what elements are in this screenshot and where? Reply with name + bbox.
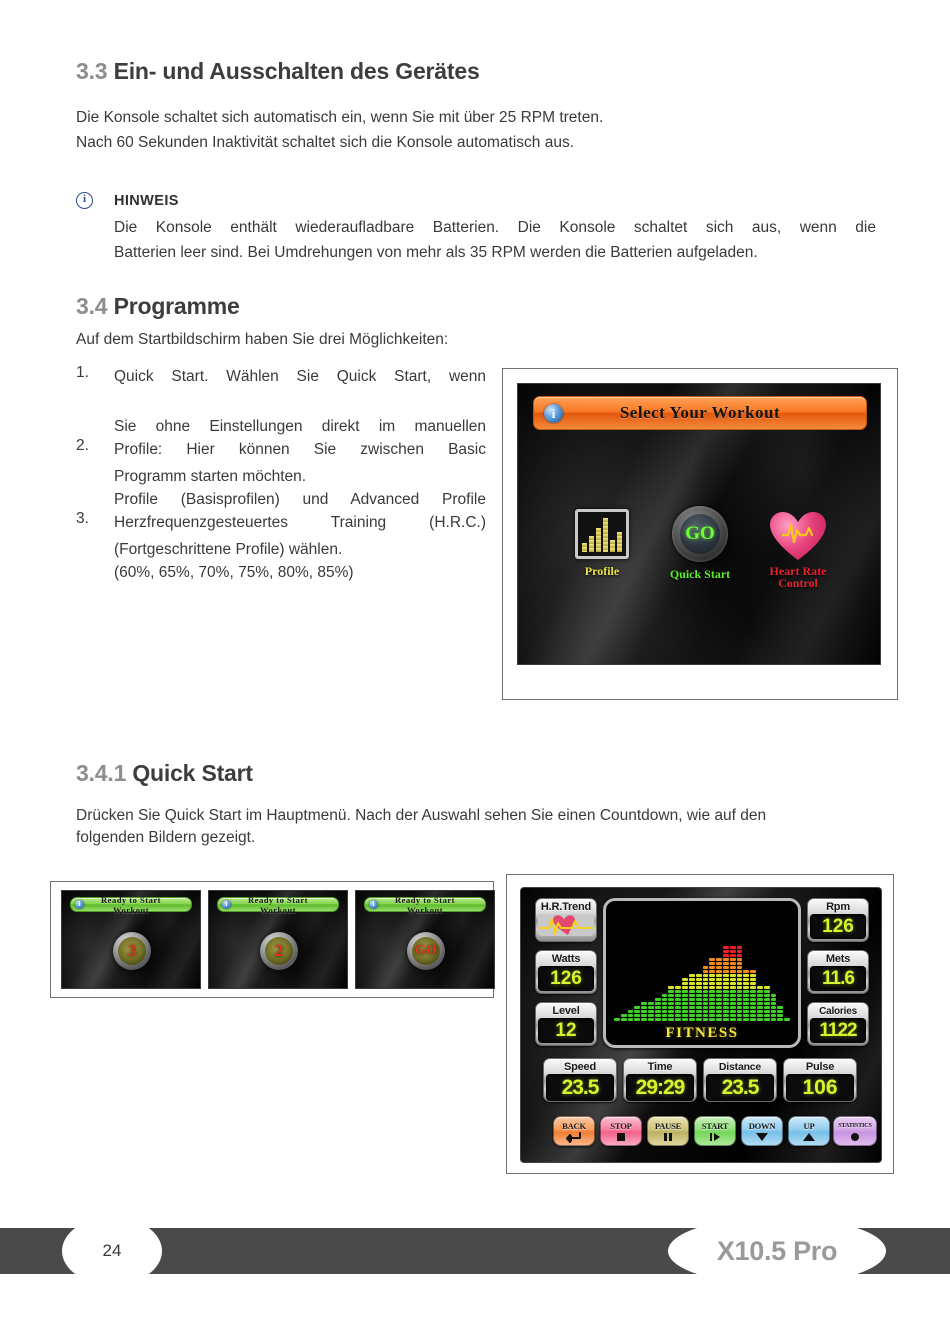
profile-bar-segment [709, 1010, 715, 1013]
profile-bar-segment [655, 1018, 661, 1021]
profile-bar-segment [716, 1002, 722, 1005]
console-button-pause[interactable]: PAUSE [647, 1116, 689, 1146]
profile-bar-segment [737, 1014, 743, 1017]
profile-bar-segment [730, 1018, 736, 1021]
pause-bars-icon [662, 1132, 674, 1143]
profile-bar-segment [614, 1018, 620, 1021]
profile-bar-segment [771, 1014, 777, 1017]
profile-bar [737, 946, 743, 1021]
profile-bar-segment [764, 990, 770, 993]
profile-bar-segment [703, 978, 709, 981]
profile-bar-segment [716, 994, 722, 997]
profile-bar-segment [764, 1014, 770, 1017]
workout-option-quick-start-label: Quick Start [658, 567, 742, 582]
workout-option-heart-rate-control[interactable]: Heart Rate Control [756, 508, 840, 589]
profile-bar-segment [743, 994, 749, 997]
console-button-label: STOP [610, 1121, 631, 1131]
profile-bar-segment [675, 1018, 681, 1021]
console-readout-label: Watts [538, 953, 594, 966]
profile-bar [716, 958, 722, 1021]
section-number: 3.4.1 [76, 760, 126, 786]
profile-bar-segment [723, 1010, 729, 1013]
console-readout-value: 12 [538, 1018, 594, 1043]
profile-bar [764, 986, 770, 1021]
profile-bar-segment [703, 966, 709, 969]
console-readout-label: Time [626, 1061, 694, 1074]
profile-bar-segment [641, 1018, 647, 1021]
back-arrow-icon [566, 1132, 582, 1143]
profile-bar-segment [757, 990, 763, 993]
console-readout-label: Calories [810, 1005, 866, 1018]
triangle-up-icon [802, 1132, 816, 1142]
info-icon: i [544, 404, 563, 423]
hrc-label-line-2: Control [778, 576, 818, 590]
profile-bar-segment [641, 1014, 647, 1017]
go-button-glyph: GO [680, 514, 720, 554]
profile-bar-segment [675, 1002, 681, 1005]
profile-bar-segment [689, 974, 695, 977]
profile-bar-segment [628, 1010, 634, 1013]
heart-ecg-icon [538, 914, 594, 936]
profile-bar-segment [682, 994, 688, 997]
profile-bar-segment [709, 978, 715, 981]
console-button-back[interactable]: BACK [553, 1116, 595, 1146]
profile-bar-segment [730, 990, 736, 993]
profile-bar-segment [703, 994, 709, 997]
profile-bar-segment [648, 1018, 654, 1021]
profile-bar-segment [723, 986, 729, 989]
profile-bar-segment [730, 962, 736, 965]
list-item-3-line-2: (60%, 65%, 70%, 75%, 80%, 85%) [114, 560, 486, 585]
profile-bar-segment [703, 970, 709, 973]
profile-bar-segment [675, 998, 681, 1001]
profile-bar-segment [723, 998, 729, 1001]
countdown-value: 3 [118, 937, 146, 965]
profile-bar-segment [641, 1006, 647, 1009]
console-button-down[interactable]: DOWN [741, 1116, 783, 1146]
page-number-badge: 24 [62, 1217, 162, 1285]
profile-bar-segment [668, 1006, 674, 1009]
console-readout-label: Speed [546, 1061, 614, 1074]
model-badge: X10.5 Pro [668, 1217, 886, 1285]
console-button-label: START [702, 1121, 728, 1131]
profile-bar-segment [757, 998, 763, 1001]
bar-chart-icon [575, 509, 629, 559]
profile-bar-segment [655, 1002, 661, 1005]
profile-bar-segment [743, 1006, 749, 1009]
profile-bar-segment [682, 1018, 688, 1021]
profile-bar-segment [771, 994, 777, 997]
profile-bar-segment [737, 998, 743, 1001]
profile-bar [743, 970, 749, 1021]
console-readout-label: Mets [810, 953, 866, 966]
profile-bar [682, 978, 688, 1021]
countdown-titlebar-label: Ready to Start Workout [84, 895, 178, 915]
profile-bar-segment [634, 1006, 640, 1009]
profile-bar-segment [743, 986, 749, 989]
profile-bar-segment [709, 1002, 715, 1005]
profile-bar-segment [750, 986, 756, 989]
countdown-puck: 3 [113, 932, 151, 970]
list-item-number-3: 3. [76, 510, 89, 528]
profile-bar-segment [777, 1006, 783, 1009]
console-button-label: STATISTICS [838, 1121, 872, 1131]
workout-option-hrc-label: Heart Rate Control [756, 565, 840, 589]
profile-bar-segment [757, 986, 763, 989]
console-readout-speed[interactable]: Speed 23.5 [543, 1058, 617, 1102]
profile-bar-segment [668, 1002, 674, 1005]
profile-bar [621, 1014, 627, 1021]
profile-bar-segment [723, 1018, 729, 1021]
play-arrow-icon [709, 1132, 722, 1143]
profile-bar-segment [703, 1018, 709, 1021]
countdown-titlebar-label: Ready to Start Workout [378, 895, 472, 915]
profile-bar-segment [730, 1006, 736, 1009]
profile-bar-segment [675, 1006, 681, 1009]
console-readout-value: 23.5 [706, 1074, 774, 1101]
profile-bar-segment [723, 958, 729, 961]
profile-bar-segment [757, 1002, 763, 1005]
console-readout-watts[interactable]: Watts 126 [535, 950, 597, 994]
profile-bar-segment [743, 1018, 749, 1021]
profile-bar [675, 986, 681, 1021]
profile-bar-segment [709, 974, 715, 977]
info-icon: i [75, 900, 84, 909]
profile-bar-segment [777, 1010, 783, 1013]
countdown-puck: 2 [260, 932, 298, 970]
profile-bar [662, 994, 668, 1021]
profile-bar [696, 974, 702, 1021]
profile-bar [750, 970, 756, 1021]
paragraph-3-3-line-2: Nach 60 Sekunden Inaktivität schaltet si… [76, 131, 574, 155]
profile-bar-segment [757, 1006, 763, 1009]
profile-bar-segment [668, 986, 674, 989]
console-readout-mets[interactable]: Mets 11.6 [807, 950, 869, 994]
paragraph-3-3-line-1: Die Konsole schaltet sich automatisch ei… [76, 106, 603, 130]
profile-bar-segment [757, 1018, 763, 1021]
list-item-3-line-1: Herzfrequenzgesteuertes Training (H.R.C.… [114, 510, 486, 560]
profile-bar-segment [737, 966, 743, 969]
section-heading-3-3: 3.3 Ein- und Ausschalten des Gerätes [76, 58, 480, 85]
profile-bar-segment [764, 1018, 770, 1021]
ecg-line-icon [782, 522, 814, 544]
profile-bar [703, 966, 709, 1021]
profile-bar-segment [771, 998, 777, 1001]
profile-bar-segment [696, 994, 702, 997]
console-button-label: PAUSE [655, 1121, 681, 1131]
countdown-titlebar-label: Ready to Start Workout [231, 895, 325, 915]
console-body: H.R.Trend Watts 126 Level 12 Rpm 1 [520, 887, 882, 1163]
profile-bar-segment [682, 1006, 688, 1009]
profile-bar-segment [689, 1002, 695, 1005]
profile-bar-segment [723, 982, 729, 985]
profile-bar-segment [716, 1018, 722, 1021]
profile-bar-segment [709, 982, 715, 985]
profile-bar-segment [730, 946, 736, 949]
figure-fitness-console: H.R.Trend Watts 126 Level 12 Rpm 1 [506, 874, 894, 1174]
profile-bar-segment [723, 978, 729, 981]
console-readout-pulse[interactable]: Pulse 106 [783, 1058, 857, 1102]
profile-bar-segment [621, 1014, 627, 1017]
list-item-3-text: Herzfrequenzgesteuertes Training (H.R.C.… [114, 510, 486, 585]
profile-bar-segment [703, 990, 709, 993]
info-icon: i [76, 192, 93, 209]
profile-bar-segment [771, 1006, 777, 1009]
profile-bar-segment [682, 990, 688, 993]
profile-bar-segment [723, 950, 729, 953]
profile-bar-segment [730, 998, 736, 1001]
profile-bar-segment [675, 986, 681, 989]
console-button-statistics[interactable]: STATISTICS [833, 1116, 877, 1146]
profile-bar-segment [696, 1006, 702, 1009]
profile-bar [689, 974, 695, 1021]
profile-bar-segment [716, 978, 722, 981]
console-readout-rpm[interactable]: Rpm 126 [807, 898, 869, 942]
profile-bar-segment [709, 970, 715, 973]
countdown-puck: GO [407, 932, 445, 970]
profile-bar-segment [716, 990, 722, 993]
note-line-2: Batterien leer sind. Bei Umdrehungen von… [114, 240, 876, 265]
profile-bar-segment [716, 974, 722, 977]
profile-bar-segment [737, 1006, 743, 1009]
console-button-stop[interactable]: STOP [600, 1116, 642, 1146]
section-title: Programme [114, 293, 240, 319]
profile-bar-segment [723, 990, 729, 993]
profile-bar-segment [737, 1018, 743, 1021]
profile-bar-segment [648, 1010, 654, 1013]
countdown-screen-3: i Ready to Start Workout 3 [61, 890, 201, 989]
profile-bar-segment [682, 1002, 688, 1005]
profile-bar-segment [689, 998, 695, 1001]
paragraph-3-4-1-line-2: folgenden Bildern gezeigt. [76, 826, 255, 850]
profile-bar-segment [730, 982, 736, 985]
manual-page: 3.3 Ein- und Ausschalten des Gerätes Die… [0, 0, 950, 1343]
profile-bar-segment [764, 1006, 770, 1009]
profile-bar-segment [750, 1006, 756, 1009]
profile-bar-segment [764, 986, 770, 989]
profile-bar-segment [675, 1010, 681, 1013]
profile-bar-segment [730, 970, 736, 973]
profile-bar-segment [696, 998, 702, 1001]
profile-bar-segment [757, 1014, 763, 1017]
figure-select-workout: i Select Your Workout Profile GO Quick S… [502, 368, 898, 700]
dot-circle-icon [849, 1132, 861, 1143]
profile-bar-segment [655, 998, 661, 1001]
profile-bar-segment [750, 1010, 756, 1013]
profile-bar-segment [777, 1014, 783, 1017]
profile-bar-segment [730, 986, 736, 989]
profile-bar-segment [689, 994, 695, 997]
profile-bar-segment [655, 1006, 661, 1009]
section-number: 3.4 [76, 293, 107, 319]
profile-bar-segment [723, 1002, 729, 1005]
profile-bar-segment [750, 978, 756, 981]
profile-bar-segment [716, 962, 722, 965]
profile-bar-segment [750, 1018, 756, 1021]
profile-bar-segment [634, 1014, 640, 1017]
profile-bar-segment [682, 1010, 688, 1013]
profile-bar-segment [716, 958, 722, 961]
profile-bar-segment [730, 1002, 736, 1005]
console-readout-level[interactable]: Level 12 [535, 1002, 597, 1046]
triangle-down-icon [755, 1132, 769, 1142]
profile-bar-segment [682, 982, 688, 985]
workout-option-profile-label: Profile [560, 564, 644, 579]
countdown-value: GO [412, 937, 440, 965]
workout-option-profile[interactable]: Profile [560, 509, 644, 579]
profile-bar-segment [750, 998, 756, 1001]
profile-bar [757, 986, 763, 1021]
profile-bar-segment [662, 998, 668, 1001]
profile-bar-segment [709, 1018, 715, 1021]
profile-bar-segment [737, 990, 743, 993]
profile-bar-segment [743, 990, 749, 993]
profile-bar-segment [668, 998, 674, 1001]
section-title: Quick Start [132, 760, 253, 786]
info-icon: i [369, 900, 378, 909]
console-button-label: DOWN [749, 1121, 776, 1131]
paragraph-3-4-intro: Auf dem Startbildschirm haben Sie drei M… [76, 328, 448, 352]
profile-bar-segment [730, 994, 736, 997]
profile-bar-segment [662, 1002, 668, 1005]
profile-bars [614, 907, 790, 1021]
workout-screen: i Select Your Workout Profile GO Quick S… [517, 383, 881, 665]
workout-option-quick-start[interactable]: GO Quick Start [658, 506, 742, 582]
chart-caption: FITNESS [606, 1025, 798, 1042]
figure-countdown: i Ready to Start Workout 3 i Ready to St… [50, 881, 494, 998]
profile-bar-segment [709, 958, 715, 961]
console-readout-label: Distance [706, 1061, 774, 1074]
profile-bar-segment [696, 986, 702, 989]
profile-bar-segment [743, 982, 749, 985]
profile-bar-segment [628, 1018, 634, 1021]
profile-bar-segment [668, 1010, 674, 1013]
profile-bar-segment [750, 990, 756, 993]
profile-bar-segment [675, 994, 681, 997]
profile-bar-segment [737, 962, 743, 965]
list-item-2-line-1: Profile: Hier können Sie zwischen Basic [114, 437, 486, 487]
countdown-value: 2 [265, 937, 293, 965]
profile-bar-segment [696, 1014, 702, 1017]
profile-bar-segment [696, 974, 702, 977]
profile-bar-segment [750, 970, 756, 973]
console-button-start[interactable]: START [694, 1116, 736, 1146]
console-readout-value: 23.5 [546, 1074, 614, 1101]
console-readout-value: 106 [786, 1074, 854, 1101]
profile-bar [784, 1018, 790, 1021]
console-button-up[interactable]: UP [788, 1116, 830, 1146]
profile-bar-segment [730, 1010, 736, 1013]
profile-bar-segment [723, 974, 729, 977]
console-readout-calories[interactable]: Calories 1122 [807, 1002, 869, 1046]
console-readout-distance[interactable]: Distance 23.5 [703, 1058, 777, 1102]
console-readout-label: Level [538, 1005, 594, 1018]
profile-bar-segment [764, 998, 770, 1001]
profile-bar-segment [764, 1002, 770, 1005]
profile-bar-segment [689, 986, 695, 989]
profile-bar-segment [777, 1018, 783, 1021]
profile-bar-segment [696, 990, 702, 993]
profile-bar-segment [730, 1014, 736, 1017]
profile-bar-segment [689, 1010, 695, 1013]
console-readout-value: 11.6 [810, 966, 866, 991]
profile-bar-segment [682, 998, 688, 1001]
workout-profile-chart: FITNESS [603, 898, 801, 1048]
profile-bar-segment [771, 1010, 777, 1013]
profile-bar-segment [750, 1002, 756, 1005]
stop-square-icon [615, 1132, 627, 1143]
info-icon: i [222, 900, 231, 909]
countdown-screen-2: i Ready to Start Workout 2 [208, 890, 348, 989]
profile-bar-segment [648, 1002, 654, 1005]
console-readout-hr-trend[interactable]: H.R.Trend [535, 898, 597, 942]
profile-bar-segment [737, 946, 743, 949]
profile-bar-segment [750, 982, 756, 985]
console-readout-label: Rpm [810, 901, 866, 914]
profile-bar-segment [675, 1014, 681, 1017]
profile-bar [723, 946, 729, 1021]
list-item-number-1: 1. [76, 364, 89, 382]
profile-bar-segment [743, 1010, 749, 1013]
profile-bar [628, 1010, 634, 1021]
profile-bar-segment [737, 970, 743, 973]
section-title: Ein- und Ausschalten des Gerätes [114, 58, 480, 84]
profile-bar-segment [662, 994, 668, 997]
profile-bar-segment [723, 994, 729, 997]
profile-bar [634, 1006, 640, 1021]
profile-bar-segment [716, 966, 722, 969]
console-readout-time[interactable]: Time 29:29 [623, 1058, 697, 1102]
section-heading-3-4: 3.4 Programme [76, 293, 240, 320]
profile-bar-segment [709, 962, 715, 965]
profile-bar-segment [716, 982, 722, 985]
countdown-titlebar: i Ready to Start Workout [70, 897, 192, 912]
profile-bar-segment [668, 990, 674, 993]
profile-bar-segment [743, 974, 749, 977]
profile-bar-segment [764, 994, 770, 997]
profile-bar-segment [716, 1010, 722, 1013]
profile-bar-segment [648, 1014, 654, 1017]
profile-bar-segment [737, 974, 743, 977]
profile-bar-segment [730, 950, 736, 953]
profile-bar-segment [750, 994, 756, 997]
console-readout-value: 1122 [810, 1018, 866, 1043]
profile-bar-segment [743, 978, 749, 981]
profile-bar-segment [662, 1018, 668, 1021]
profile-bar-segment [689, 1006, 695, 1009]
profile-bar-segment [750, 1014, 756, 1017]
profile-bar-segment [689, 982, 695, 985]
profile-bar-segment [723, 946, 729, 949]
profile-bar-segment [757, 994, 763, 997]
profile-bar-segment [662, 1006, 668, 1009]
section-number: 3.3 [76, 58, 107, 84]
profile-bar-segment [662, 1014, 668, 1017]
profile-bar-segment [689, 1014, 695, 1017]
countdown-screen-go: i Ready to Start Workout GO [355, 890, 495, 989]
profile-bar-segment [723, 966, 729, 969]
profile-bar-segment [634, 1018, 640, 1021]
profile-bar-segment [743, 1014, 749, 1017]
profile-bar-segment [662, 1010, 668, 1013]
profile-bar-segment [628, 1014, 634, 1017]
profile-bar-segment [709, 1006, 715, 1009]
profile-bar-segment [703, 1010, 709, 1013]
profile-bar-segment [621, 1018, 627, 1021]
heart-ecg-icon [770, 508, 826, 560]
console-readout-label: Pulse [786, 1061, 854, 1074]
profile-bar-segment [696, 1018, 702, 1021]
